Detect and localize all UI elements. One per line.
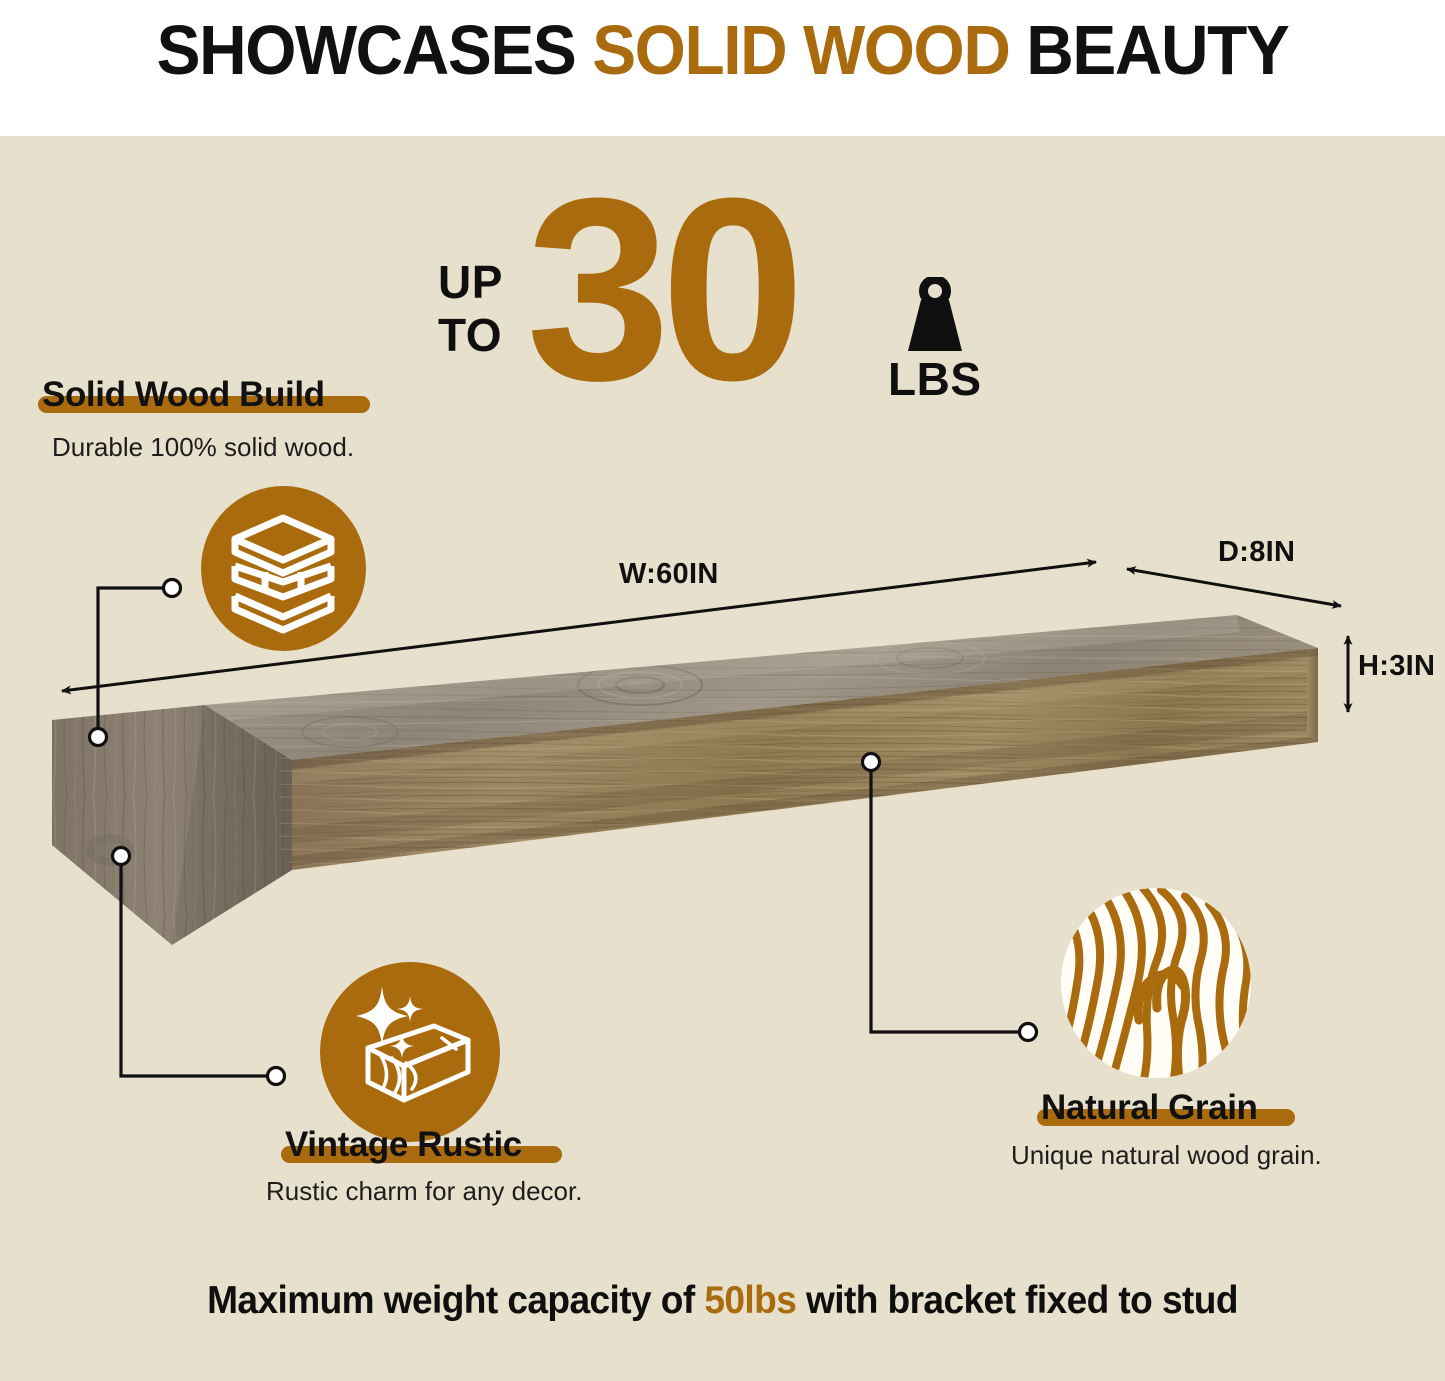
up-to-label: UP TO [438, 256, 503, 362]
feature-title: Natural Grain [1041, 1088, 1258, 1128]
title-part-1: SHOWCASES [157, 11, 593, 89]
wood-grain-icon [1061, 888, 1251, 1078]
footer-caption: Maximum weight capacity of 50lbs with br… [36, 1278, 1409, 1324]
sparkle-plank-icon [320, 962, 500, 1142]
leader-dot-grain-icon [1020, 1024, 1037, 1041]
footer-part-2: with bracket fixed to stud [796, 1279, 1238, 1322]
weight-icon [904, 277, 966, 355]
weight-capacity-callout: UP TO 30 LBS [438, 182, 1018, 402]
feature-title-wrap: Vintage Rustic [279, 1125, 528, 1165]
title-part-2: BEAUTY [1009, 11, 1288, 89]
footer-accent: 50lbs [704, 1279, 796, 1322]
capacity-unit: LBS [888, 354, 982, 404]
dimension-depth-label: D:8IN [1218, 536, 1295, 569]
dimension-height-label: H:3IN [1358, 650, 1435, 683]
feature-subtitle: Rustic charm for any decor. [266, 1176, 582, 1206]
feature-subtitle: Durable 100% solid wood. [52, 432, 354, 462]
to-label: TO [438, 309, 503, 362]
title-accent: SOLID WOOD [592, 11, 1009, 89]
feature-title-wrap: Solid Wood Build [36, 375, 331, 415]
leader-dot-vintage-icon [268, 1068, 285, 1085]
feature-title: Vintage Rustic [285, 1125, 522, 1165]
dimension-width-label: W:60IN [619, 558, 719, 591]
feature-title-wrap: Natural Grain [1035, 1088, 1264, 1128]
footer-part-1: Maximum weight capacity of [207, 1279, 704, 1322]
stacked-planks-icon [201, 486, 366, 651]
capacity-value: 30 [526, 160, 795, 420]
up-label: UP [438, 256, 503, 309]
feature-title: Solid Wood Build [42, 375, 325, 415]
feature-subtitle: Unique natural wood grain. [1011, 1140, 1322, 1170]
page-title: SHOWCASES SOLID WOOD BEAUTY [43, 2, 1401, 98]
infographic-page: SHOWCASES SOLID WOOD BEAUTY UP TO 30 LBS [0, 0, 1445, 1381]
